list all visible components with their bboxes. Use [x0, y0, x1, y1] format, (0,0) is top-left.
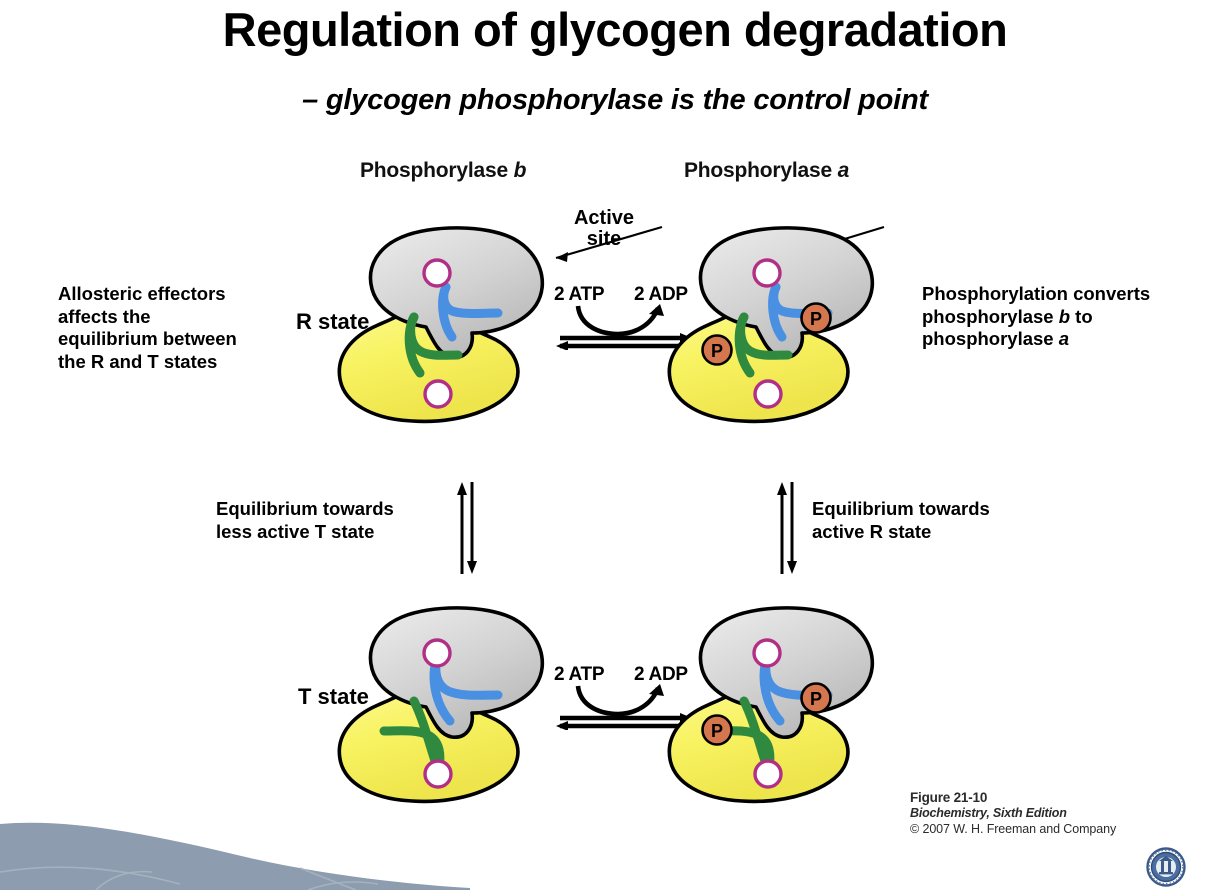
right-annotation-line-2b: to: [1070, 306, 1093, 327]
active-site-upper: [424, 260, 450, 286]
label-t-state: T state: [298, 684, 369, 711]
right-equilibrium-annotation: Equilibrium towards active R state: [812, 498, 1052, 543]
right-annotation-line-2a: phosphorylase: [922, 306, 1059, 327]
phosphate-badge-upper: P: [802, 304, 831, 333]
label-r-state: R state: [296, 309, 369, 336]
right-annotation-line-3-italic: a: [1059, 328, 1069, 349]
left-equilibrium-annotation: Equilibrium towards less active T state: [216, 498, 446, 543]
active-site-upper: [754, 260, 780, 286]
heading-b-text: Phosphorylase: [360, 159, 514, 182]
top-reaction-substrate: 2 ATP: [554, 283, 604, 306]
phosphate-badge-upper: P: [802, 684, 831, 713]
protein-phosphorylase-a-r-state: P P: [660, 195, 920, 445]
slide-canvas: Regulation of glycogen degradation – gly…: [0, 0, 1230, 890]
right-annotation-line-1: Phosphorylation converts: [922, 283, 1202, 306]
active-site-upper: [754, 640, 780, 666]
protein-t-state-phosphorylated: P P: [660, 575, 920, 825]
heading-a-letter: a: [838, 159, 849, 182]
right-annotation-line-3: phosphorylase a: [922, 328, 1202, 351]
slide-subtitle: – glycogen phosphorylase is the control …: [0, 84, 1230, 117]
credit-figure-number: Figure 21-10: [910, 790, 1116, 805]
heading-b-letter: b: [514, 159, 527, 182]
left-annotation-line-3: equilibrium between: [58, 328, 308, 351]
figure-credit: Figure 21-10 Biochemistry, Sixth Edition…: [910, 790, 1116, 836]
bottom-reaction-substrate: 2 ATP: [554, 663, 604, 686]
active-site-lower: [755, 761, 781, 787]
slide-title: Regulation of glycogen degradation: [0, 2, 1230, 57]
active-site-upper: [424, 640, 450, 666]
left-annotation-line-4: the R and T states: [58, 351, 308, 374]
phosphate-badge-lower: P: [703, 336, 732, 365]
phosphate-label-lower: P: [711, 721, 723, 741]
left-annotation-line-1: Allosteric effectors: [58, 283, 308, 306]
phosphate-badge-lower: P: [703, 716, 732, 745]
phosphate-label-upper: P: [810, 689, 822, 709]
right-annotation-line-2-italic: b: [1059, 306, 1070, 327]
credit-copyright: © 2007 W. H. Freeman and Company: [910, 822, 1116, 836]
phosphate-label-lower: P: [711, 341, 723, 361]
left-equilibrium-line-2: less active T state: [216, 521, 446, 544]
active-site-lower: [425, 381, 451, 407]
right-annotation-line-3a: phosphorylase: [922, 328, 1059, 349]
institution-seal-logo: [1146, 847, 1186, 887]
right-equilibrium-line-2: active R state: [812, 521, 1052, 544]
credit-source: Biochemistry, Sixth Edition: [910, 806, 1116, 820]
decorative-swoosh: [0, 810, 470, 890]
active-site-lower: [755, 381, 781, 407]
right-equilibrium-line-1: Equilibrium towards: [812, 498, 1052, 521]
left-vertical-equilibrium-arrows: [452, 478, 486, 578]
heading-a-text: Phosphorylase: [684, 159, 838, 182]
active-site-lower: [425, 761, 451, 787]
left-equilibrium-line-1: Equilibrium towards: [216, 498, 446, 521]
heading-phosphorylase-b: Phosphorylase b: [360, 158, 526, 184]
right-annotation-line-2: phosphorylase b to: [922, 306, 1202, 329]
right-annotation: Phosphorylation converts phosphorylase b…: [922, 283, 1202, 351]
heading-phosphorylase-a: Phosphorylase a: [684, 158, 849, 184]
phosphate-label-upper: P: [810, 309, 822, 329]
left-annotation-line-2: affects the: [58, 306, 308, 329]
left-annotation: Allosteric effectors affects the equilib…: [58, 283, 308, 373]
right-vertical-equilibrium-arrows: [772, 478, 806, 578]
